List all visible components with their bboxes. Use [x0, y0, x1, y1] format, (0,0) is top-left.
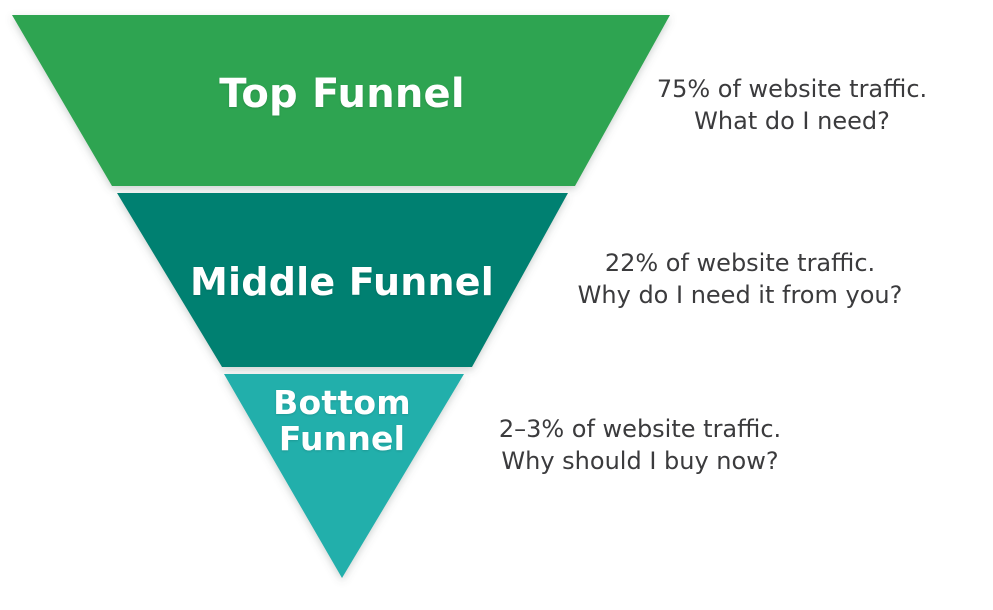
- caption-bottom-line-1: 2–3% of website traffic.: [440, 414, 840, 446]
- funnel-segment-top-label: Top Funnel: [92, 74, 592, 115]
- caption-top-line-1: 75% of website traffic.: [622, 74, 962, 106]
- funnel-diagram: Top Funnel Middle Funnel Bottom Funnel 7…: [0, 0, 993, 610]
- funnel-segment-middle-label: Middle Funnel: [92, 263, 592, 302]
- caption-middle-line-2: Why do I need it from you?: [520, 280, 960, 312]
- caption-middle-line-1: 22% of website traffic.: [520, 248, 960, 280]
- funnel-caption-top: 75% of website traffic. What do I need?: [622, 74, 962, 137]
- caption-bottom-line-2: Why should I buy now?: [440, 446, 840, 478]
- funnel-caption-middle: 22% of website traffic. Why do I need it…: [520, 248, 960, 311]
- funnel-caption-bottom: 2–3% of website traffic. Why should I bu…: [440, 414, 840, 477]
- caption-top-line-2: What do I need?: [622, 106, 962, 138]
